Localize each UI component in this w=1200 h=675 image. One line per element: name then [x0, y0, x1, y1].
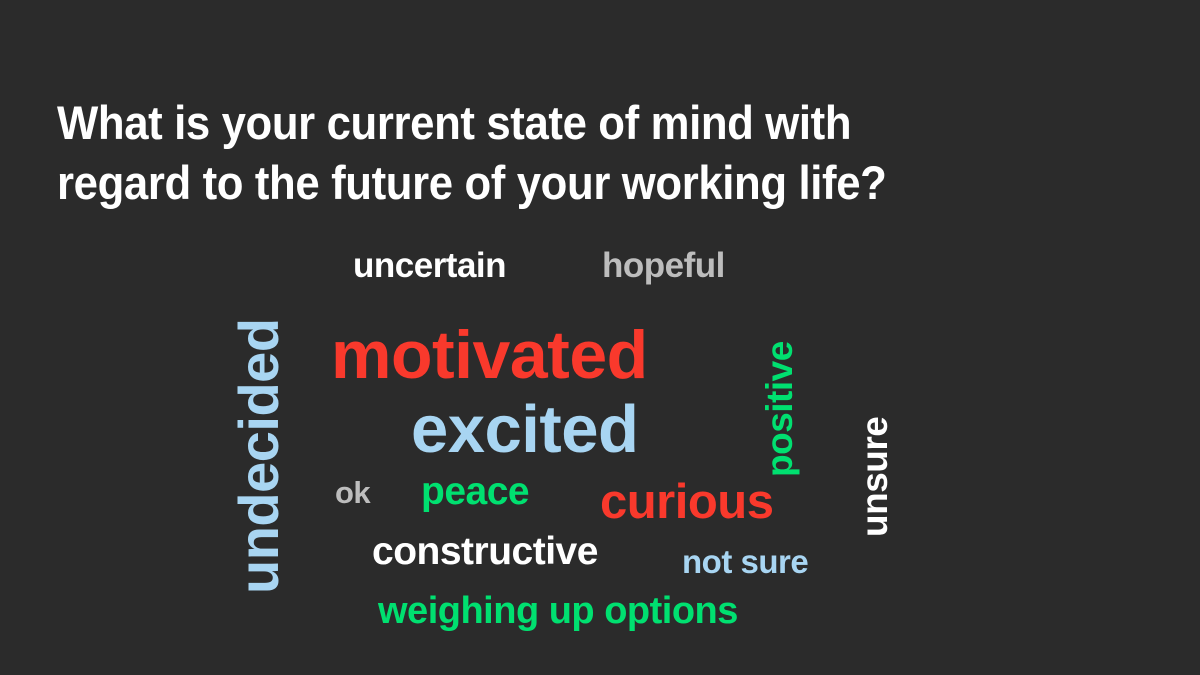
cloud-word: uncertain	[353, 248, 506, 283]
cloud-word: ok	[335, 477, 370, 508]
word-cloud-slide: What is your current state of mind with …	[0, 0, 1200, 675]
cloud-word: motivated	[331, 321, 648, 389]
cloud-word: curious	[600, 478, 773, 527]
cloud-word: excited	[411, 396, 638, 463]
cloud-word: weighing up options	[378, 592, 738, 630]
cloud-word: hopeful	[602, 248, 725, 283]
cloud-word: peace	[421, 472, 529, 511]
cloud-word: constructive	[372, 532, 598, 571]
cloud-word: undecided	[231, 318, 287, 594]
cloud-word: positive	[761, 341, 798, 477]
word-cloud: motivatedexcitedundecidedcuriousweighing…	[0, 0, 1200, 675]
cloud-word: not sure	[682, 545, 808, 578]
cloud-word: unsure	[856, 417, 893, 537]
